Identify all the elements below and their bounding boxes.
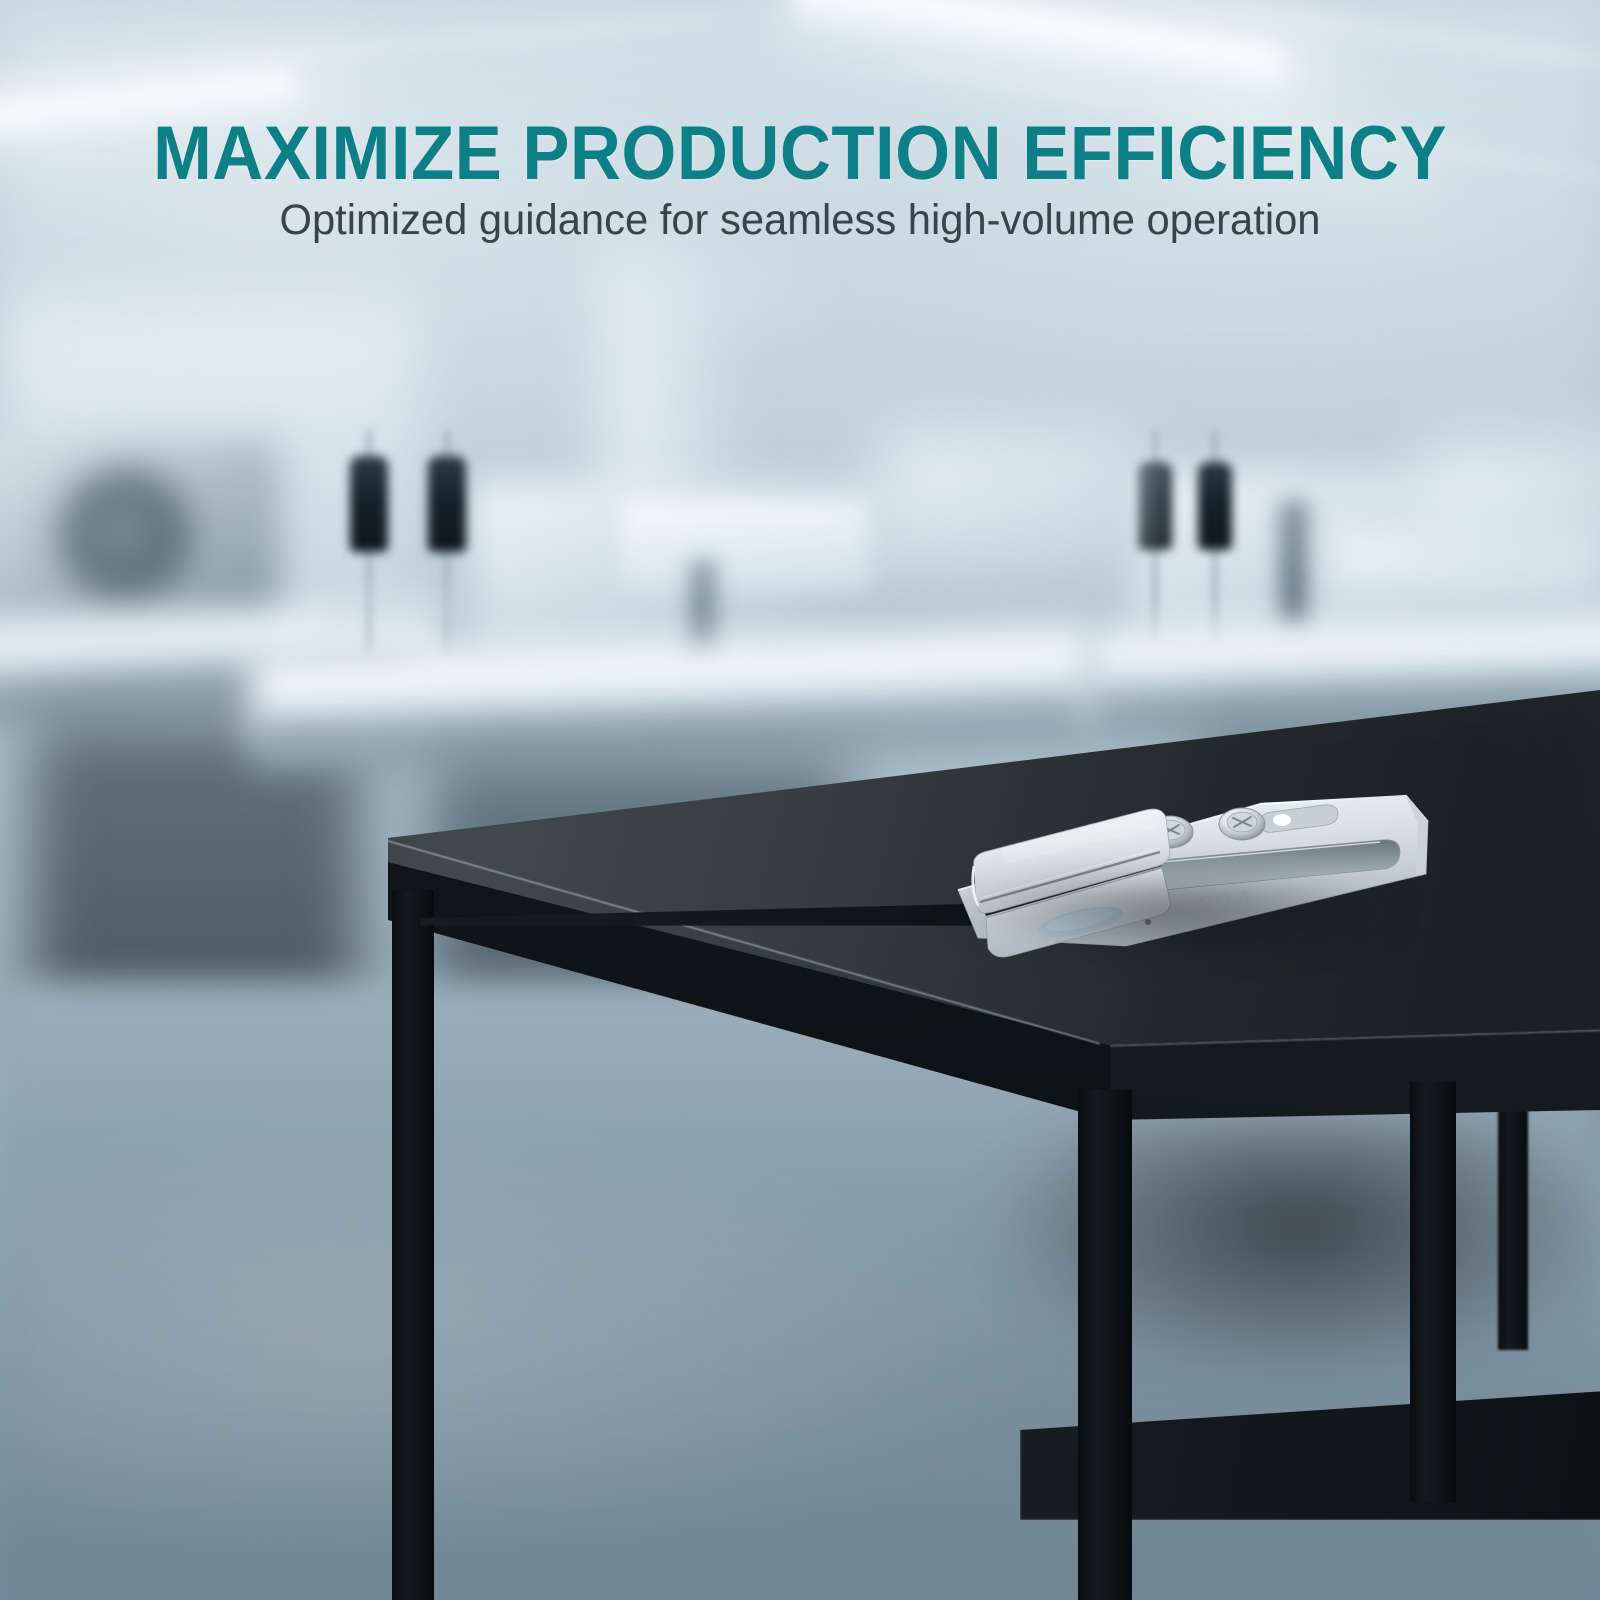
product-hemmer-attachment: 224	[930, 770, 1450, 990]
product-cast-shadow	[942, 866, 1412, 956]
machine-far-1	[880, 430, 1140, 570]
machine-left-wheel	[60, 470, 190, 600]
background-shelf	[620, 276, 800, 306]
thread-cone-center-1	[350, 456, 388, 552]
machine-right-needlebar	[1280, 500, 1308, 630]
hero-scene: 224	[0, 0, 1600, 1600]
table-leg-front-center	[1078, 1090, 1132, 1600]
thread-cone-right-1	[1138, 462, 1172, 550]
product-screw-right	[1219, 808, 1265, 840]
machine-center-arm	[620, 500, 870, 590]
thread-cone-center-2	[428, 456, 466, 552]
spool-stand-plate-center	[330, 600, 490, 618]
table-leg-front-left	[392, 890, 434, 1600]
machine-far-2	[1420, 440, 1600, 590]
table-leg-front-right	[1410, 1082, 1456, 1502]
thread-cone-right-2	[1198, 462, 1232, 550]
